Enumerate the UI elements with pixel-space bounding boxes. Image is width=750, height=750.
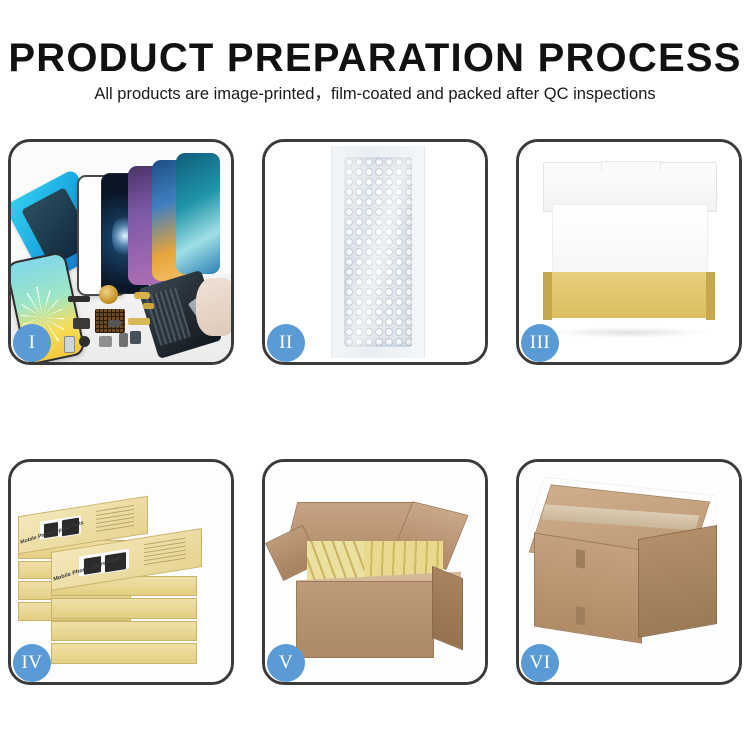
carton-right-face [432, 566, 463, 651]
step-panel-2: II [262, 139, 488, 365]
foam-sheet [552, 204, 708, 281]
kraft-box-front [545, 272, 712, 318]
copper-coil-part [99, 285, 118, 304]
spare-part [119, 333, 128, 346]
step-badge-3: III [521, 324, 559, 362]
step-panel-5: V [262, 459, 488, 685]
phone-teal-wallpaper [176, 153, 220, 274]
retail-box [51, 621, 198, 642]
carton-seam [576, 549, 585, 568]
carton-front-face [296, 581, 434, 658]
step-badge-4: IV [13, 644, 51, 682]
process-steps-grid: I II III [8, 139, 742, 691]
page-subtitle: All products are image-printed，film-coat… [0, 86, 750, 103]
retail-box [51, 643, 198, 664]
technician-hand [196, 278, 231, 335]
step-badge-1: I [13, 324, 51, 362]
step-badge-2: II [267, 324, 305, 362]
spare-part [79, 336, 90, 347]
drop-shadow [550, 327, 708, 338]
spare-part [143, 303, 154, 310]
spare-part [128, 318, 150, 325]
bubble-wrap-sheet [344, 157, 412, 346]
kraft-box-side-right [706, 272, 715, 320]
carton-seam [576, 606, 585, 625]
step-panel-3: III [516, 139, 742, 365]
carton-side-face [638, 525, 717, 638]
product-preparation-page: PRODUCT PREPARATION PROCESS All products… [0, 0, 750, 750]
retail-box [51, 598, 198, 619]
box-stack: Mobile Phone Spare Parts Mobile Phone Sp… [18, 484, 225, 671]
step-badge-5: V [267, 644, 305, 682]
step-badge-6: VI [521, 644, 559, 682]
spare-part [68, 296, 90, 302]
step-panel-6: VI [516, 459, 742, 685]
spare-part [108, 320, 121, 327]
spare-part [73, 318, 91, 329]
box-checklist [96, 505, 134, 535]
carton-front-face [534, 533, 642, 644]
spare-part [134, 292, 149, 300]
spare-part [64, 336, 75, 353]
spare-part [99, 336, 112, 347]
box-checklist [144, 538, 186, 569]
kraft-box-side-left [543, 272, 552, 320]
spare-part [130, 331, 141, 344]
step-panel-4: Mobile Phone Spare Parts Mobile Phone Sp… [8, 459, 234, 685]
page-title: PRODUCT PREPARATION PROCESS [0, 38, 750, 78]
step-panel-1: I [8, 139, 234, 365]
